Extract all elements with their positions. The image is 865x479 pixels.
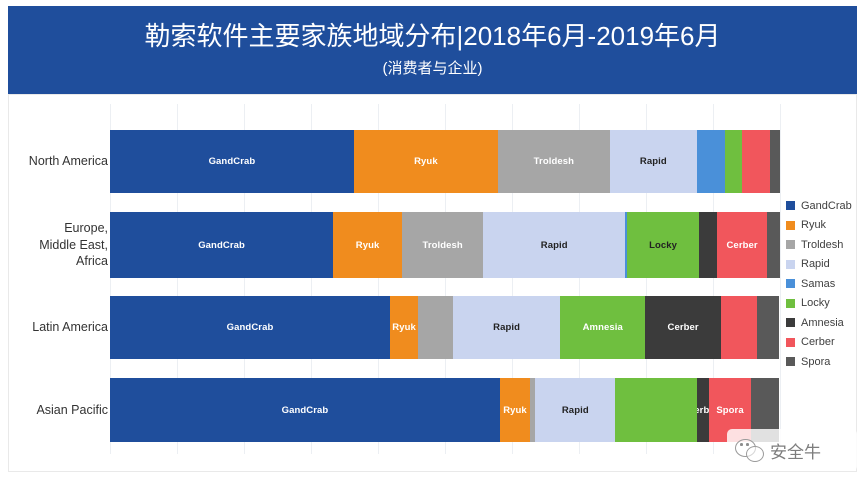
bar-segment-gandcrab[interactable]: GandCrab — [110, 212, 333, 278]
bar-segment-locky[interactable]: Amnesia — [560, 296, 645, 359]
legend-label: Cerber — [801, 336, 835, 348]
legend-swatch — [786, 318, 795, 327]
bar-segment-amnesia[interactable]: Cerber — [645, 296, 721, 359]
bar-segment-samas[interactable] — [697, 130, 725, 193]
stacked-bar[interactable]: GandCrabRyukTroldeshRapid — [110, 130, 780, 193]
bar-segment-amnesia[interactable] — [699, 212, 717, 278]
legend-item-rapid[interactable]: Rapid — [786, 255, 858, 275]
chart-category-row: Europe, Middle East, AfricaGandCrabRyukT… — [110, 212, 780, 278]
bar-segment-amnesia[interactable]: Cerber — [697, 378, 709, 442]
category-axis-label: Asian Pacific — [0, 402, 108, 419]
legend-label: Ryuk — [801, 219, 826, 231]
bar-segment-label: Rapid — [640, 156, 667, 167]
stacked-bar[interactable]: GandCrabRyukRapidCerberSpora — [110, 378, 780, 442]
page-title: 勒索软件主要家族地域分布|2018年6月-2019年6月 — [144, 22, 720, 52]
watermark-text: 安全牛 — [770, 438, 821, 463]
legend-label: Amnesia — [801, 317, 844, 329]
legend-item-amnesia[interactable]: Amnesia — [786, 313, 858, 333]
bar-segment-label: Rapid — [541, 240, 568, 251]
bar-segment-label: Troldesh — [534, 156, 574, 167]
legend-swatch — [786, 260, 795, 269]
bar-segment-label: Rapid — [562, 405, 589, 416]
bar-segment-label: GandCrab — [209, 156, 256, 167]
legend-item-samas[interactable]: Samas — [786, 274, 858, 294]
legend-swatch — [786, 338, 795, 347]
legend-label: Troldesh — [801, 239, 843, 251]
chart-category-row: Latin AmericaGandCrabRyukRapidAmnesiaCer… — [110, 296, 780, 359]
bar-segment-label: GandCrab — [282, 405, 329, 416]
bar-segment-cerber[interactable] — [721, 296, 757, 359]
chart-subtitle: (消费者与企业) — [383, 60, 483, 78]
bar-segment-label: Troldesh — [422, 240, 462, 251]
bar-segment-ryuk[interactable]: Ryuk — [390, 296, 418, 359]
bar-segment-label: GandCrab — [198, 240, 245, 251]
bar-segment-label: Ryuk — [503, 405, 527, 416]
legend-item-spora[interactable]: Spora — [786, 352, 858, 372]
legend-swatch — [786, 240, 795, 249]
bar-segment-label: Ryuk — [356, 240, 380, 251]
category-axis-label: Europe, Middle East, Africa — [0, 220, 108, 270]
gridline — [780, 104, 781, 454]
bar-segment-gandcrab[interactable]: GandCrab — [110, 296, 390, 359]
bar-segment-label: Rapid — [493, 322, 520, 333]
bar-segment-label: Cerber — [668, 322, 699, 333]
legend-swatch — [786, 279, 795, 288]
legend-item-troldesh[interactable]: Troldesh — [786, 235, 858, 255]
bar-segment-ryuk[interactable]: Ryuk — [500, 378, 530, 442]
legend-item-locky[interactable]: Locky — [786, 294, 858, 314]
bar-segment-rapid[interactable]: Rapid — [483, 212, 625, 278]
chart-page: 勒索软件主要家族地域分布|2018年6月-2019年6月 (消费者与企业) No… — [0, 0, 865, 479]
bar-segment-cerber[interactable] — [742, 130, 770, 193]
bar-segment-label: Cerber — [697, 405, 709, 416]
plot-area: North AmericaGandCrabRyukTroldeshRapidEu… — [110, 104, 780, 454]
bar-segment-label: Spora — [716, 405, 743, 416]
chart-legend: GandCrabRyukTroldeshRapidSamasLockyAmnes… — [786, 196, 858, 372]
legend-swatch — [786, 357, 795, 366]
bar-segment-gandcrab[interactable]: GandCrab — [110, 378, 500, 442]
bar-segment-rapid[interactable]: Rapid — [453, 296, 560, 359]
legend-swatch — [786, 221, 795, 230]
bar-segment-troldesh[interactable]: Troldesh — [402, 212, 483, 278]
legend-label: Rapid — [801, 258, 830, 270]
bar-segment-label: Amnesia — [583, 322, 623, 333]
bar-segment-cerber[interactable]: Cerber — [717, 212, 767, 278]
legend-item-ryuk[interactable]: Ryuk — [786, 216, 858, 236]
legend-item-cerber[interactable]: Cerber — [786, 333, 858, 353]
stacked-bar[interactable]: GandCrabRyukTroldeshRapidLockyCerber — [110, 212, 780, 278]
bar-segment-rapid[interactable]: Rapid — [535, 378, 615, 442]
bar-segment-rapid[interactable]: Rapid — [610, 130, 697, 193]
legend-label: Samas — [801, 278, 835, 290]
category-axis-label: North America — [0, 153, 108, 170]
bar-segment-label: Locky — [649, 240, 677, 251]
bar-segment-troldesh[interactable] — [418, 296, 453, 359]
wechat-icon — [735, 438, 763, 462]
bar-segment-label: Ryuk — [414, 156, 438, 167]
legend-swatch — [786, 201, 795, 210]
chart-header-banner: 勒索软件主要家族地域分布|2018年6月-2019年6月 (消费者与企业) — [8, 6, 857, 94]
watermark: 安全牛 — [727, 429, 857, 471]
bar-segment-ryuk[interactable]: Ryuk — [354, 130, 498, 193]
legend-label: GandCrab — [801, 200, 852, 212]
stacked-bar[interactable]: GandCrabRyukRapidAmnesiaCerber — [110, 296, 780, 359]
bar-segment-gandcrab[interactable]: GandCrab — [110, 130, 354, 193]
bar-segment-spora[interactable] — [757, 296, 779, 359]
chart-category-row: North AmericaGandCrabRyukTroldeshRapid — [110, 130, 780, 193]
bar-segment-locky[interactable] — [725, 130, 742, 193]
legend-label: Spora — [801, 356, 830, 368]
bar-segment-locky[interactable] — [615, 378, 697, 442]
bar-segment-label: Ryuk — [392, 322, 416, 333]
bar-segment-spora[interactable] — [767, 212, 780, 278]
bar-segment-troldesh[interactable]: Troldesh — [498, 130, 610, 193]
bar-segment-locky[interactable]: Locky — [627, 212, 699, 278]
bar-segment-label: Cerber — [726, 240, 757, 251]
bar-segment-ryuk[interactable]: Ryuk — [333, 212, 402, 278]
legend-swatch — [786, 299, 795, 308]
bar-segment-spora[interactable] — [770, 130, 780, 193]
chart-category-row: Asian PacificGandCrabRyukRapidCerberSpor… — [110, 378, 780, 442]
legend-item-gandcrab[interactable]: GandCrab — [786, 196, 858, 216]
category-axis-label: Latin America — [0, 319, 108, 336]
legend-label: Locky — [801, 297, 830, 309]
bar-segment-label: GandCrab — [227, 322, 274, 333]
